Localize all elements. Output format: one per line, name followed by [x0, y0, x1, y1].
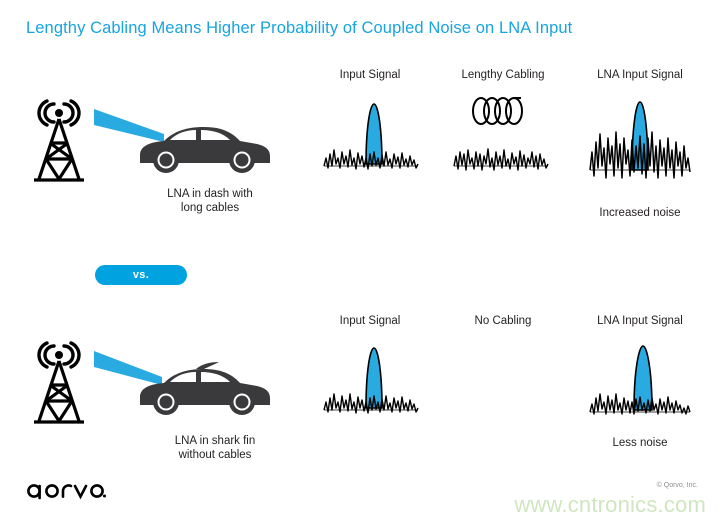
column-header-lengthy-cabling: Lengthy Cabling	[438, 69, 568, 81]
copyright-text: © Qorvo, Inc.	[657, 482, 698, 489]
shark-fin-antenna-icon	[196, 362, 219, 369]
waveform-lengthy-cabling	[452, 92, 552, 182]
rf-beam-icon	[94, 351, 162, 385]
qorvo-logo	[26, 479, 106, 501]
column-header-no-cabling: No Cabling	[438, 315, 568, 327]
rf-beam-icon	[94, 109, 164, 142]
tower-beacon-icon	[55, 109, 63, 117]
column-header-input-signal-top: Input Signal	[310, 69, 430, 81]
column-header-input-signal-bottom: Input Signal	[310, 315, 430, 327]
note-less-noise: Less noise	[575, 437, 705, 449]
column-header-lna-input-signal-top: LNA Input Signal	[575, 69, 705, 81]
vs-badge-label: vs.	[133, 269, 149, 281]
note-increased-noise: Increased noise	[575, 207, 705, 219]
waveform-input-signal-bottom	[322, 338, 420, 426]
site-watermark: www.cntronics.com	[514, 492, 706, 518]
waveform-lna-input-signal-bottom	[588, 336, 692, 428]
car-shark-fin-silhouette-icon	[140, 362, 270, 415]
slide-canvas: Lengthy Cabling Means Higher Probability…	[0, 0, 720, 520]
page-title: Lengthy Cabling Means Higher Probability…	[26, 19, 572, 38]
tower-mast-icon	[34, 119, 84, 180]
waveform-lna-input-signal-top	[588, 88, 692, 188]
tower-mast-icon	[34, 361, 84, 422]
caption-shark-fin: LNA in shark fin without cables	[120, 434, 310, 462]
placeholder-no-cabling	[452, 338, 552, 426]
scene-long-cable	[14, 95, 274, 185]
cable-coil-icon	[473, 98, 522, 124]
column-header-lna-input-signal-bottom: LNA Input Signal	[575, 315, 705, 327]
waveform-input-signal-top	[322, 92, 420, 182]
scene-shark-fin	[14, 335, 274, 430]
caption-long-cable: LNA in dash with long cables	[120, 187, 300, 215]
tower-beacon-icon	[55, 351, 63, 359]
vs-badge: vs.	[95, 265, 187, 285]
